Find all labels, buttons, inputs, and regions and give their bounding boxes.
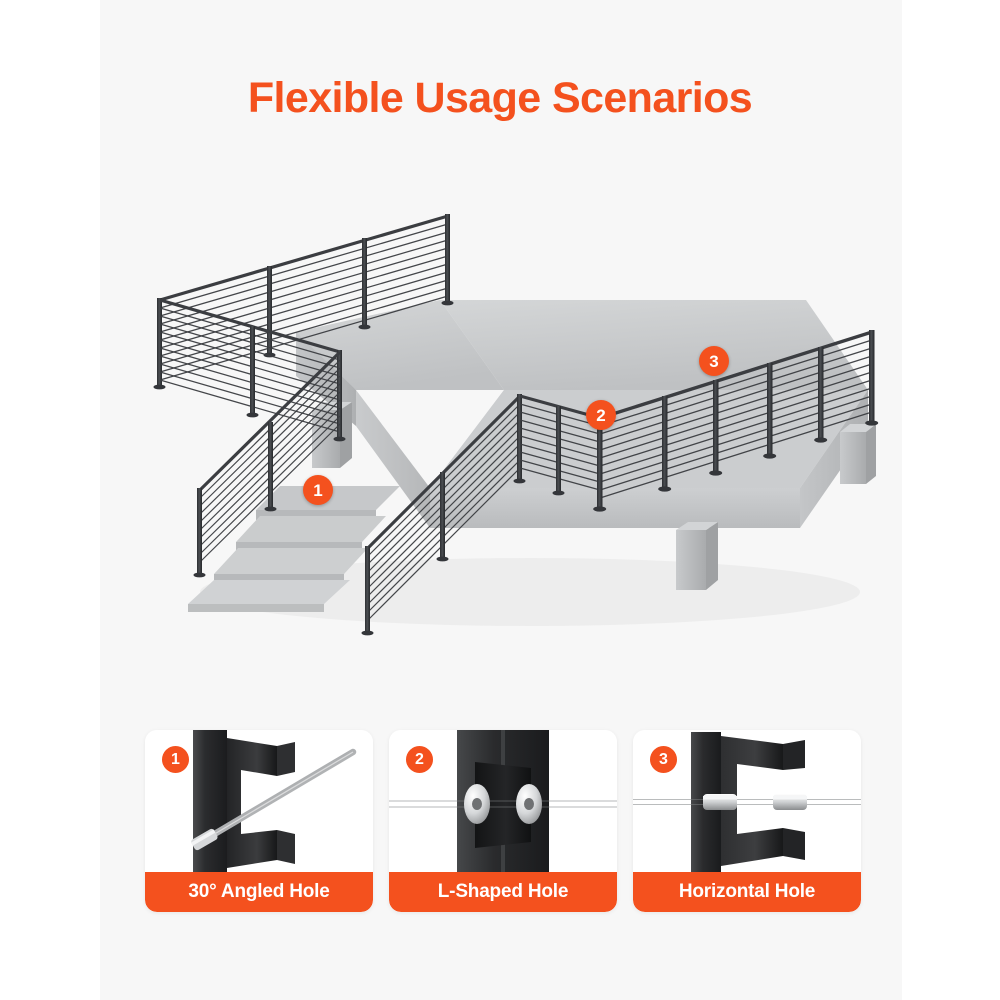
page-title: Flexible Usage Scenarios: [0, 72, 1000, 124]
hero-marker-2[interactable]: 2: [586, 400, 616, 430]
card-2-badge: 2: [406, 746, 433, 773]
card-30-angled-hole[interactable]: 1 30° Angled Hole: [145, 730, 373, 912]
hero-marker-3[interactable]: 3: [699, 346, 729, 376]
card-2-label: L-Shaped Hole: [389, 872, 617, 912]
card-l-shaped-hole[interactable]: 2 L-Shaped Hole: [389, 730, 617, 912]
hero-marker-1[interactable]: 1: [303, 475, 333, 505]
hero-illustration: [100, 200, 902, 660]
card-3-label: Horizontal Hole: [633, 872, 861, 912]
card-horizontal-hole[interactable]: 3 Horizontal Hole: [633, 730, 861, 912]
card-3-badge: 3: [650, 746, 677, 773]
feature-cards: 1 30° Angled Hole: [145, 730, 861, 912]
card-1-label: 30° Angled Hole: [145, 872, 373, 912]
card-1-badge: 1: [162, 746, 189, 773]
infographic-page: Flexible Usage Scenarios: [0, 0, 1000, 1000]
